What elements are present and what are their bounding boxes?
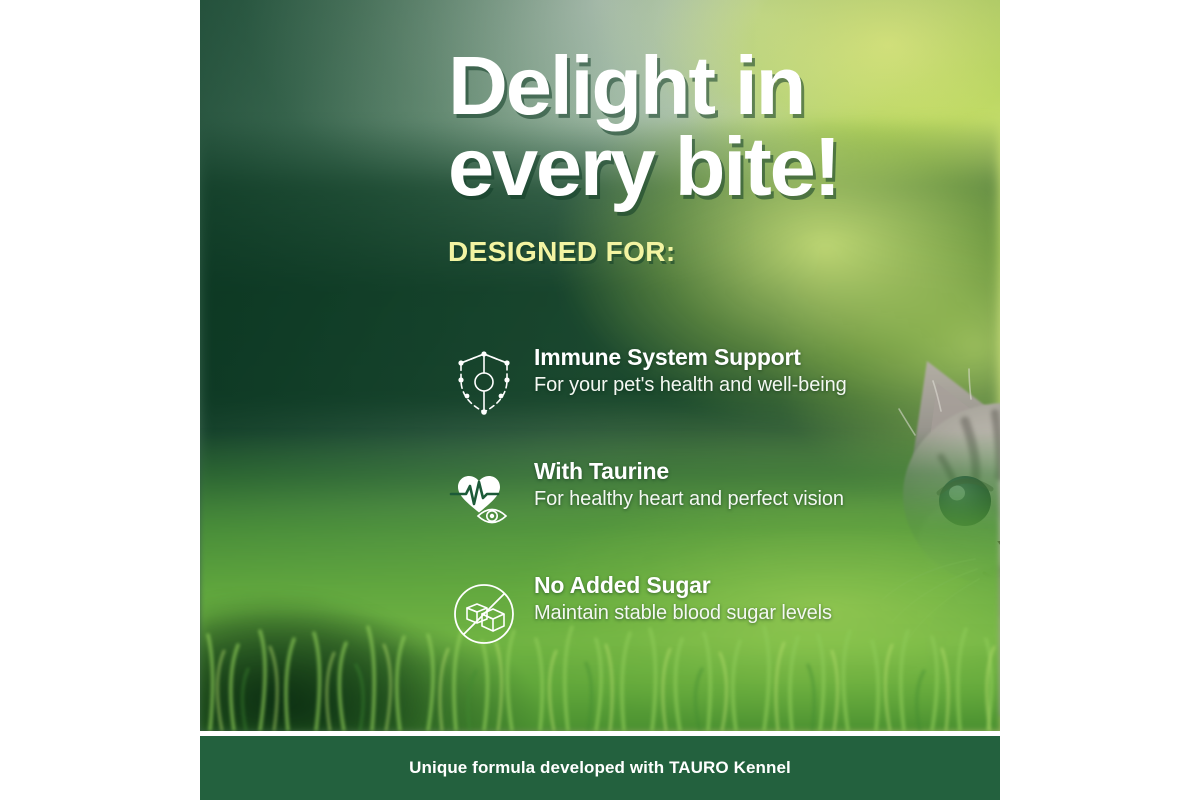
page-title: Delight in every bite!: [448, 46, 918, 207]
feature-item-no-added-sugar: No Added Sugar Maintain stable blood sug…: [444, 572, 884, 668]
hero-photo: Delight in every bite! DESIGNED FOR:: [200, 0, 1000, 731]
feature-item-immune-support: Immune System Support For your pet's hea…: [444, 344, 884, 440]
headline-line-2: every bite!: [448, 120, 839, 213]
banner-text: Unique formula developed with TAURO Kenn…: [409, 758, 791, 778]
feature-description: For healthy heart and perfect vision: [534, 487, 884, 512]
headline-line-1: Delight in: [448, 39, 804, 132]
heart-pulse-eye-icon: [448, 464, 520, 536]
feature-title: With Taurine: [534, 458, 884, 485]
feature-item-taurine: With Taurine For healthy heart and perfe…: [444, 458, 884, 554]
subheading-designed-for: DESIGNED FOR:: [448, 236, 676, 268]
feature-list: Immune System Support For your pet's hea…: [444, 344, 884, 686]
shield-icon: [448, 346, 520, 418]
feature-title: No Added Sugar: [534, 572, 884, 599]
feature-description: For your pet's health and well-being: [534, 373, 884, 398]
no-sugar-cubes-icon: [448, 578, 520, 650]
feature-description: Maintain stable blood sugar levels: [534, 601, 884, 626]
bottom-banner: Unique formula developed with TAURO Kenn…: [200, 736, 1000, 800]
feature-title: Immune System Support: [534, 344, 884, 371]
poster-canvas: Delight in every bite! DESIGNED FOR:: [0, 0, 1200, 800]
